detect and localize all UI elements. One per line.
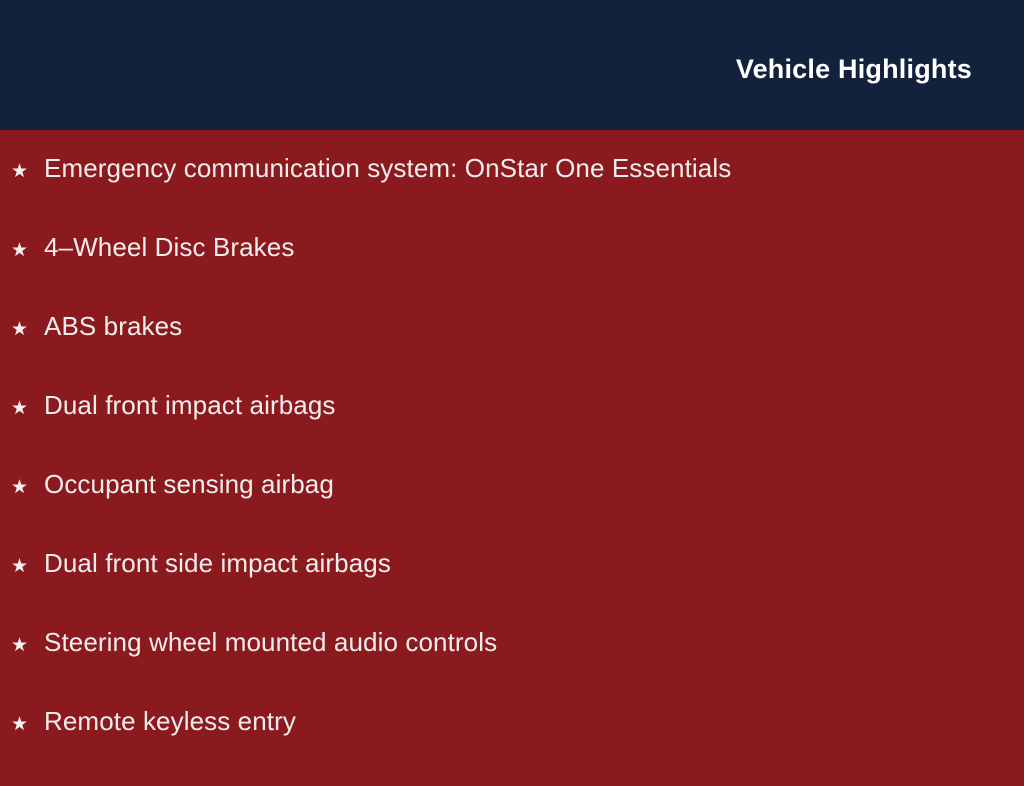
- vehicle-highlights-slide: Vehicle Highlights ★ Emergency communica…: [0, 0, 1024, 768]
- list-item-label: 4–Wheel Disc Brakes: [44, 233, 1024, 263]
- list-item: ★ Occupant sensing airbag: [0, 470, 1024, 549]
- list-item-label: ABS brakes: [44, 312, 1024, 342]
- list-item-label: Emergency communication system: OnStar O…: [44, 154, 1024, 184]
- list-item: ★ Steering wheel mounted audio controls: [0, 628, 1024, 707]
- list-item: ★ ABS brakes: [0, 312, 1024, 391]
- star-icon: ★: [11, 162, 44, 181]
- page-title: Vehicle Highlights: [736, 55, 972, 85]
- list-item: ★ Dual front impact airbags: [0, 391, 1024, 470]
- list-item-label: Remote keyless entry: [44, 707, 1024, 737]
- star-icon: ★: [11, 478, 44, 497]
- star-icon: ★: [11, 241, 44, 260]
- list-item: ★ Remote keyless entry: [0, 707, 1024, 786]
- list-item: ★ Dual front side impact airbags: [0, 549, 1024, 628]
- header-band: Vehicle Highlights: [0, 0, 1024, 130]
- star-icon: ★: [11, 715, 44, 734]
- star-icon: ★: [11, 399, 44, 418]
- star-icon: ★: [11, 557, 44, 576]
- list-item: ★ 4–Wheel Disc Brakes: [0, 233, 1024, 312]
- list-item-label: Dual front side impact airbags: [44, 549, 1024, 579]
- star-icon: ★: [11, 320, 44, 339]
- list-item-label: Occupant sensing airbag: [44, 470, 1024, 500]
- highlights-body: ★ Emergency communication system: OnStar…: [0, 130, 1024, 786]
- star-icon: ★: [11, 636, 44, 655]
- list-item-label: Steering wheel mounted audio controls: [44, 628, 1024, 658]
- list-item-label: Dual front impact airbags: [44, 391, 1024, 421]
- vehicle-highlights-list: ★ Emergency communication system: OnStar…: [0, 154, 1024, 786]
- list-item: ★ Emergency communication system: OnStar…: [0, 154, 1024, 233]
